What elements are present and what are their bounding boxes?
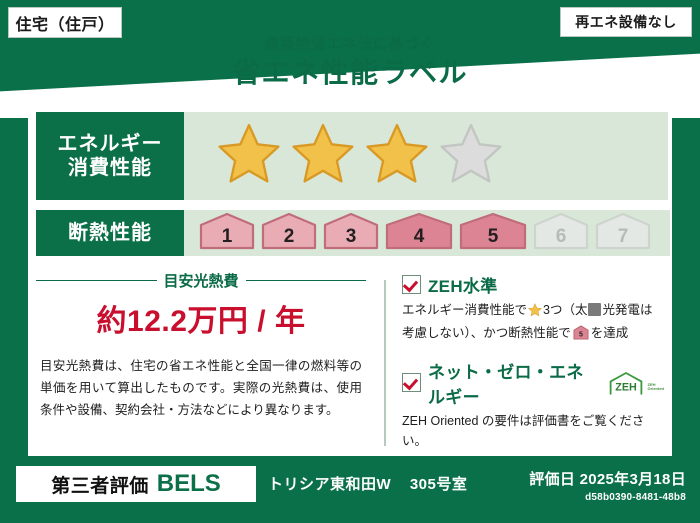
redacted-character: [588, 303, 601, 316]
svg-text:6: 6: [556, 226, 567, 247]
svg-text:5: 5: [579, 332, 583, 339]
zeh-standard-description: エネルギー消費性能で3つ（太光発電は考慮しない）、かつ断熱性能で5を達成: [402, 300, 664, 347]
zeh-logo-icon: ZEH ZEH Oriented: [606, 371, 664, 395]
star-icon-empty: [438, 122, 504, 190]
page-title: 省エネ性能ラベル: [0, 58, 700, 88]
renewable-equipment-tag: 再エネ設備なし: [560, 7, 692, 37]
utility-cost-heading-text: 目安光熱費: [164, 270, 239, 291]
utility-cost-section: 目安光熱費 約12.2万円 / 年 目安光熱費は、住宅の省エネ性能と全国一律の燃…: [36, 270, 366, 422]
zeh-standard-title: ZEH水準: [428, 272, 498, 297]
house-level-4: 4: [384, 212, 454, 255]
net-zero-energy-check-line: ネット・ゼロ・エネルギー ZEH ZEH Oriented: [402, 358, 664, 408]
zeh-logo-sub-line2: Oriented: [648, 387, 664, 391]
house-level-1: 1: [198, 212, 256, 255]
housing-type-tag: 住宅（住戸）: [8, 7, 122, 38]
star-icon-filled: [364, 122, 430, 190]
zeh-desc-part4: を達成: [591, 326, 629, 340]
net-zero-energy-title: ネット・ゼロ・エネルギー: [428, 358, 596, 408]
footer-band: 第三者評価 BELS トリシア東和田W 305号室 評価日 2025年3月18日…: [0, 456, 700, 523]
building-name: トリシア東和田W: [268, 476, 391, 493]
bels-badge: 第三者評価 BELS: [16, 466, 256, 502]
energy-performance-row: エネルギー 消費性能: [36, 112, 668, 200]
energy-performance-value-box: [184, 112, 668, 200]
star-icon-filled: [216, 122, 282, 190]
house-level-scale: 1234567: [198, 212, 652, 255]
star-rating: [216, 122, 504, 190]
utility-cost-value: 約12.2万円 / 年: [36, 296, 366, 340]
svg-text:2: 2: [284, 226, 295, 247]
house-level-2: 2: [260, 212, 318, 255]
net-zero-energy-description: ZEH Oriented の要件は評価書をご覧ください。: [402, 411, 664, 452]
insulation-performance-row: 断熱性能 1234567: [36, 210, 670, 256]
svg-text:3: 3: [346, 226, 357, 247]
bels-jp-label: 第三者評価: [51, 471, 149, 498]
house-level-3: 3: [322, 212, 380, 255]
bels-en-label: BELS: [157, 470, 221, 498]
certification-section: ZEH水準 エネルギー消費性能で3つ（太光発電は考慮しない）、かつ断熱性能で5を…: [402, 272, 664, 451]
evaluation-id: d58b0390-8481-48b8: [529, 492, 686, 503]
house-level-6: 6: [532, 212, 590, 255]
star-icon-inline: [528, 303, 542, 323]
checkmark-icon: [402, 275, 421, 294]
label-card: エネルギー 消費性能 断熱性能 1234567 目安光熱費 約12.2万円 /: [28, 104, 672, 456]
house-level-5: 5: [458, 212, 528, 255]
energy-label-line1: エネルギー: [58, 132, 163, 156]
heading-rule-left: [36, 280, 157, 282]
building-info: トリシア東和田W 305号室: [268, 473, 467, 494]
house-level-7: 7: [594, 212, 652, 255]
svg-text:4: 4: [414, 226, 425, 247]
svg-text:1: 1: [222, 226, 233, 247]
column-divider: [384, 280, 386, 446]
insulation-label: 断熱性能: [68, 221, 152, 245]
heading-rule-right: [246, 280, 367, 282]
energy-performance-label: 住宅（住戸） 再エネ設備なし 建築物省エネ法に基づく 省エネ性能ラベル エネルギ…: [0, 0, 700, 523]
insulation-performance-value-box: 1234567: [184, 210, 670, 256]
zeh-desc-part1: エネルギー消費性能で: [402, 303, 527, 317]
insulation-performance-label-box: 断熱性能: [36, 210, 184, 256]
energy-label-line2: 消費性能: [68, 156, 152, 180]
evaluation-date: 評価日 2025年3月18日: [529, 468, 686, 489]
zeh-standard-check-line: ZEH水準: [402, 272, 664, 297]
svg-text:7: 7: [618, 226, 629, 247]
title-subtitle: 建築物省エネ法に基づく: [0, 38, 700, 53]
zeh-desc-part2: 3つ（太: [543, 303, 587, 317]
evaluation-info: 評価日 2025年3月18日 d58b0390-8481-48b8: [529, 468, 686, 503]
room-number: 305号室: [410, 476, 468, 493]
svg-text:5: 5: [488, 226, 499, 247]
utility-cost-heading: 目安光熱費: [36, 270, 366, 291]
energy-performance-label-box: エネルギー 消費性能: [36, 112, 184, 200]
checkmark-icon: [402, 373, 421, 392]
title-block: 建築物省エネ法に基づく 省エネ性能ラベル: [0, 38, 700, 88]
house-icon-inline: 5: [573, 325, 589, 346]
star-icon-filled: [290, 122, 356, 190]
utility-cost-note: 目安光熱費は、住宅の省エネ性能と全国一律の燃料等の単価を用いて算出したものです。…: [36, 356, 366, 422]
svg-text:ZEH: ZEH: [615, 381, 637, 393]
